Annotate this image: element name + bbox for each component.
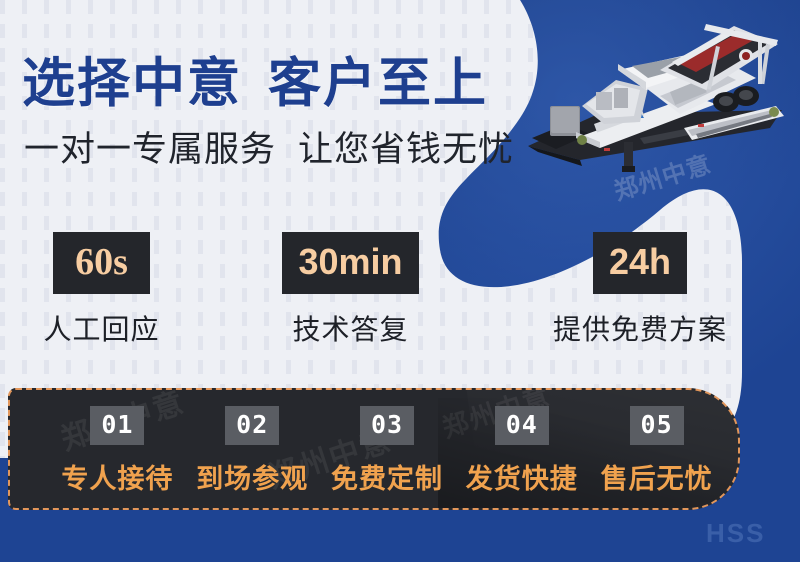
step-number-5: 05 xyxy=(630,406,684,445)
step-label-1: 专人接待 xyxy=(50,457,185,496)
step-item-4[interactable]: 04 发货快捷 xyxy=(454,390,589,510)
badge-group-1: 60s 人工回应 xyxy=(14,232,189,348)
headline: 选择中意客户至上 xyxy=(22,57,488,110)
steps-list: 01 专人接待 02 到场参观 03 免费定制 04 发货快捷 05 售后无忧 xyxy=(10,390,740,510)
headline-right: 客户至上 xyxy=(268,54,488,113)
step-item-2[interactable]: 02 到场参观 xyxy=(185,390,320,510)
step-label-3: 免费定制 xyxy=(320,457,455,496)
brand-mark: HSS xyxy=(706,518,765,549)
badge-value-1: 60s xyxy=(53,232,150,294)
badge-group-3: 24h 提供免费方案 xyxy=(520,232,760,348)
step-number-4: 04 xyxy=(495,406,549,445)
subheadline: 一对一专属服务让您省钱无忧 xyxy=(24,132,514,167)
service-badges: 60s 人工回应 30min 技术答复 24h 提供免费方案 xyxy=(0,232,770,342)
headline-left: 选择中意 xyxy=(22,54,242,113)
badge-caption-2: 技术答复 xyxy=(258,308,443,348)
step-item-3[interactable]: 03 免费定制 xyxy=(320,390,455,510)
badge-group-2: 30min 技术答复 xyxy=(258,232,443,348)
process-steps-bar: 郑州中意 郑州中意 郑州中意 01 专人接待 02 到场参观 03 免费定制 0… xyxy=(8,388,740,510)
step-label-2: 到场参观 xyxy=(185,457,320,496)
badge-caption-1: 人工回应 xyxy=(14,308,189,348)
step-number-2: 02 xyxy=(225,406,279,445)
step-label-4: 发货快捷 xyxy=(454,457,589,496)
badge-value-3: 24h xyxy=(593,232,687,294)
step-item-5[interactable]: 05 售后无忧 xyxy=(589,390,724,510)
subheadline-right: 让您省钱无忧 xyxy=(298,130,514,169)
badge-caption-3: 提供免费方案 xyxy=(520,308,760,348)
step-label-5: 售后无忧 xyxy=(589,457,724,496)
step-number-3: 03 xyxy=(360,406,414,445)
step-number-1: 01 xyxy=(90,406,144,445)
subheadline-left: 一对一专属服务 xyxy=(24,130,276,169)
badge-value-2: 30min xyxy=(282,232,418,294)
step-item-1[interactable]: 01 专人接待 xyxy=(50,390,185,510)
promo-banner: 选择中意客户至上 一对一专属服务让您省钱无忧 xyxy=(0,0,800,562)
